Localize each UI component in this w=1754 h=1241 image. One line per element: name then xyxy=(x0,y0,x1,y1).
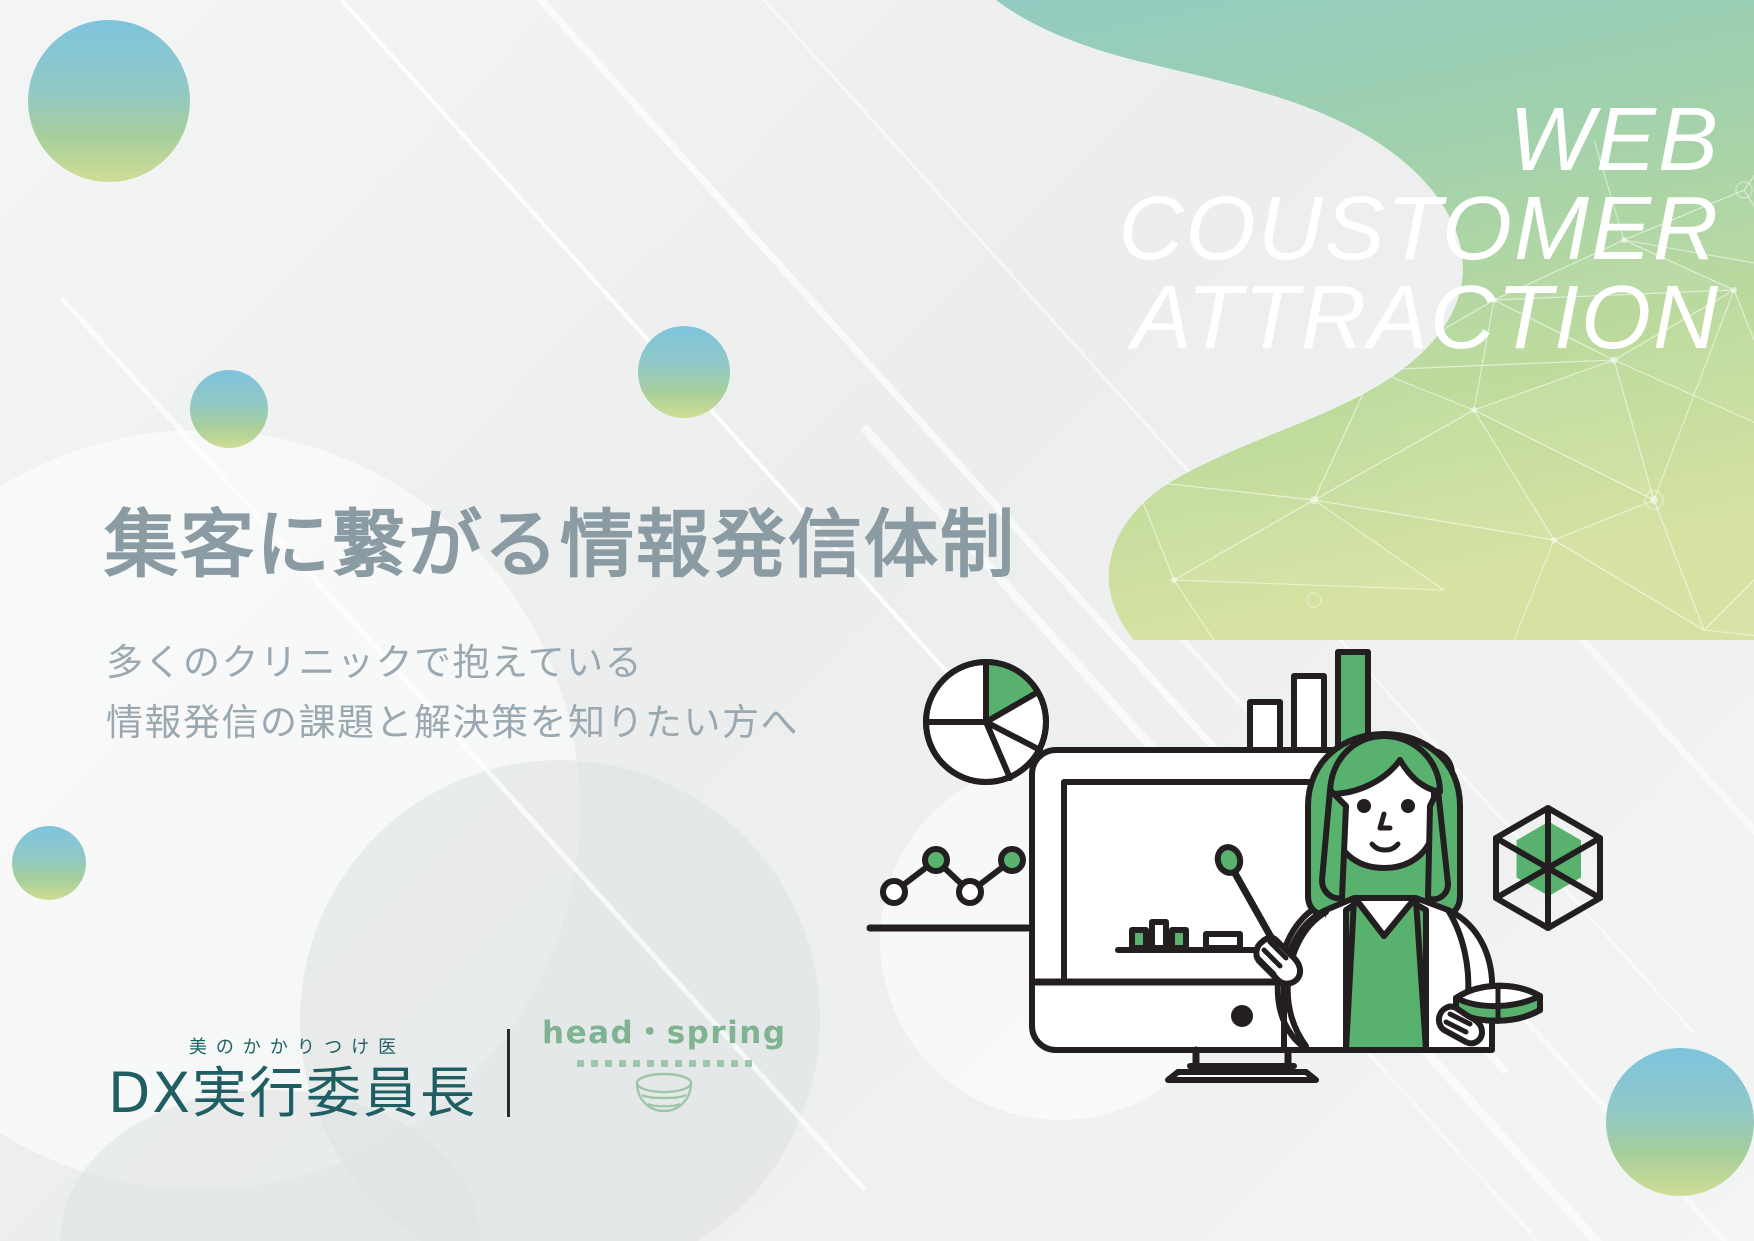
headspring-logo-name: head・spring xyxy=(542,1018,787,1049)
illustration xyxy=(860,610,1754,1080)
decorative-sphere-3 xyxy=(638,326,730,418)
line-chart-icon xyxy=(870,849,1028,928)
decorative-sphere-4 xyxy=(12,826,86,900)
headspring-logo: head・spring xyxy=(542,1018,787,1121)
page-subtitle-line-1: 多くのクリニックで抱えている xyxy=(106,633,799,693)
english-headline: WEB COUSTOMER ATTRACTION xyxy=(1119,96,1720,363)
pie-chart-icon xyxy=(926,662,1046,782)
dx-logo: 美のかかりつけ医 DX実行委員長 xyxy=(108,1033,477,1121)
headspring-bowl-icon xyxy=(621,1071,707,1117)
english-headline-line-1: WEB xyxy=(1119,96,1720,185)
dx-logo-tagline: 美のかかりつけ医 xyxy=(180,1033,405,1059)
page-subtitle: 多くのクリニックで抱えている 情報発信の課題と解決策を知りたい方へ xyxy=(106,633,799,753)
english-headline-line-2: COUSTOMER xyxy=(1119,185,1720,274)
slide-canvas: WEB COUSTOMER ATTRACTION 集客に繋がる情報発信体制 多く… xyxy=(0,0,1754,1241)
cube-icon xyxy=(1496,808,1600,928)
decorative-sphere-1 xyxy=(28,20,190,182)
headspring-dot-row xyxy=(577,1060,752,1067)
dx-logo-name: DX実行委員長 xyxy=(108,1066,477,1121)
logo-divider xyxy=(507,1029,510,1117)
decorative-sphere-2 xyxy=(190,370,268,448)
page-title: 集客に繋がる情報発信体制 xyxy=(104,506,1016,586)
logo-lockup: 美のかかりつけ医 DX実行委員長 head・spring xyxy=(108,1018,787,1121)
english-headline-line-3: ATTRACTION xyxy=(1119,274,1720,363)
page-subtitle-line-2: 情報発信の課題と解決策を知りたい方へ xyxy=(106,693,799,753)
